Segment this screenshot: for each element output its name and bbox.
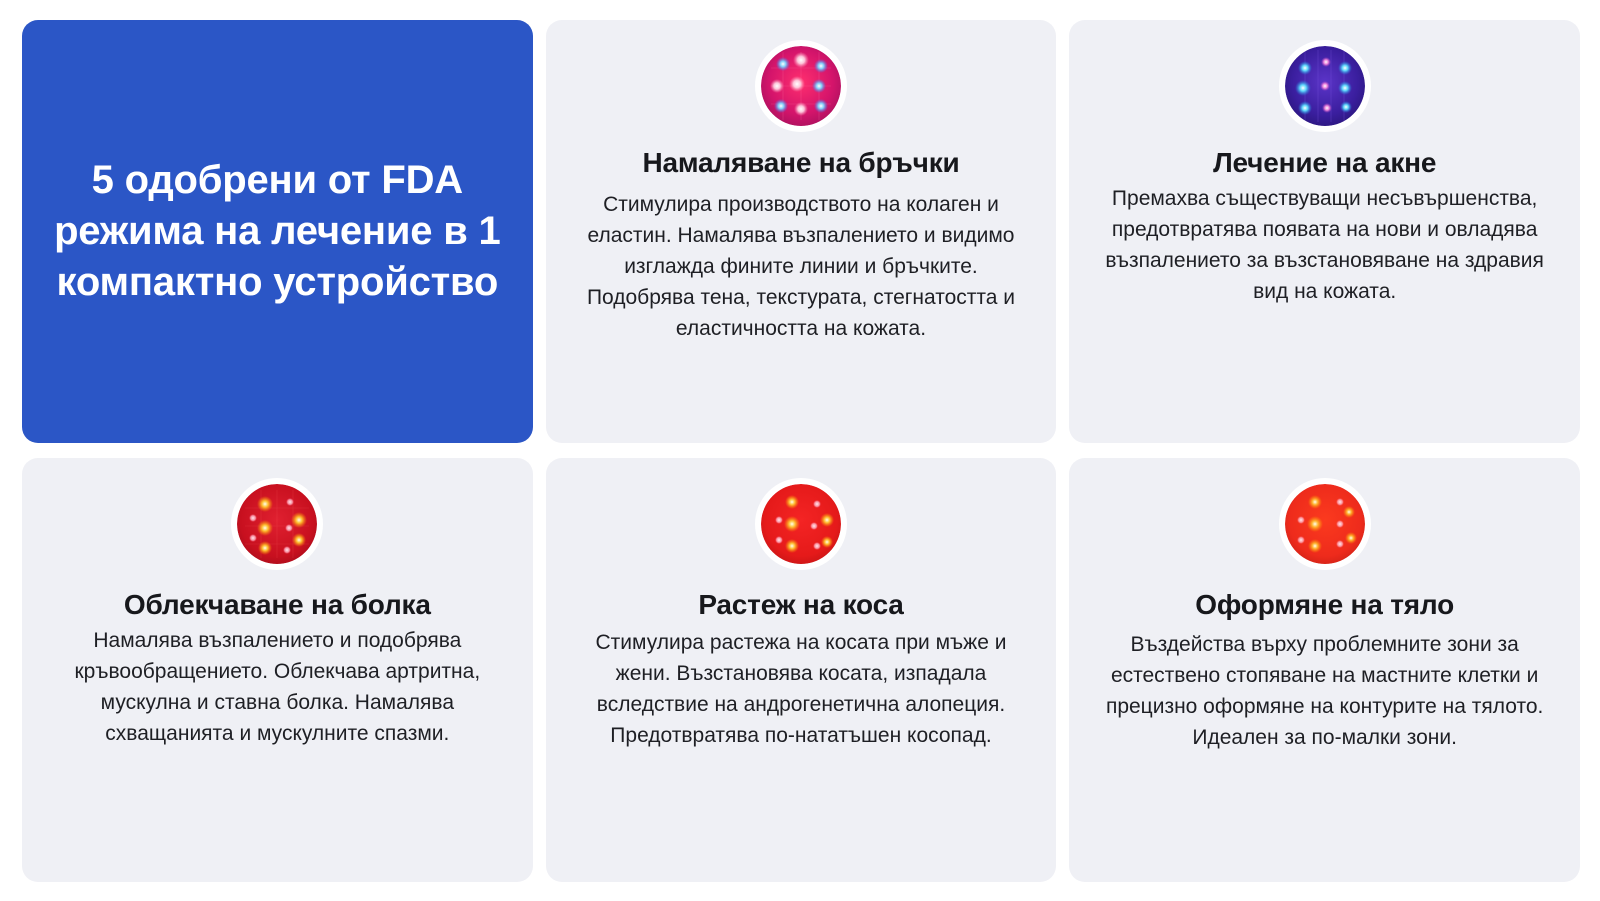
led-panel-bright-red-icon [761, 484, 841, 564]
feature-card-acne-treatment: Лечение на акне Премахва съществуващи не… [1069, 20, 1580, 443]
feature-card-hair-growth: Растеж на коса Стимулира растежа на коса… [546, 458, 1057, 882]
card-description: Въздейства върху проблемните зони за ест… [1095, 630, 1554, 753]
card-description: Премахва съществуващи несъвършенства, пр… [1095, 184, 1554, 307]
led-panel-orange-red-icon [1285, 484, 1365, 564]
icon-badge [1279, 40, 1371, 132]
card-description: Стимулира растежа на косата при мъже и ж… [572, 628, 1031, 751]
led-panel-red-blue-icon [761, 46, 841, 126]
highlight-card: 5 одобрени от FDA режима на лечение в 1 … [22, 20, 533, 443]
icon-badge [755, 478, 847, 570]
card-title: Намаляване на бръчки [642, 146, 959, 180]
card-title: Лечение на акне [1213, 146, 1436, 180]
benefits-grid: 5 одобрени от FDA режима на лечение в 1 … [0, 0, 1600, 901]
icon-badge [1279, 478, 1371, 570]
card-title: Оформяне на тяло [1195, 588, 1454, 622]
card-title: Облекчаване на болка [124, 588, 431, 622]
icon-badge [231, 478, 323, 570]
highlight-headline: 5 одобрени от FDA режима на лечение в 1 … [50, 155, 505, 309]
card-description: Стимулира производството на колаген и ел… [572, 190, 1031, 344]
feature-card-pain-relief: Облекчаване на болка Намалява възпаление… [22, 458, 533, 882]
card-description: Намалява възпалението и подобрява кръвоо… [48, 626, 507, 749]
feature-card-wrinkle-reduction: Намаляване на бръчки Стимулира производс… [546, 20, 1057, 443]
led-panel-blue-violet-icon [1285, 46, 1365, 126]
led-panel-deep-red-icon [237, 484, 317, 564]
feature-card-body-contouring: Оформяне на тяло Въздейства върху пробле… [1069, 458, 1580, 882]
card-title: Растеж на коса [698, 588, 903, 622]
icon-badge [755, 40, 847, 132]
